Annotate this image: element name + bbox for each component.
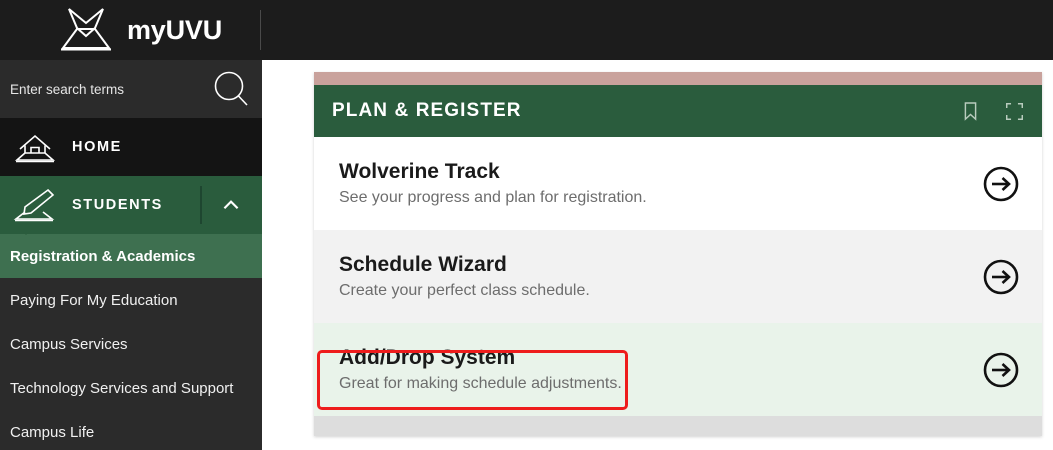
card-title: PLAN & REGISTER bbox=[332, 100, 522, 122]
pencil-icon bbox=[12, 187, 58, 223]
row-title: Wolverine Track bbox=[339, 160, 647, 184]
card-row-schedule-wizard[interactable]: Schedule Wizard Create your perfect clas… bbox=[314, 230, 1042, 323]
arrow-right-circle-icon bbox=[982, 165, 1020, 203]
home-icon bbox=[12, 129, 58, 165]
uvu-mountain-logo-icon bbox=[55, 6, 117, 54]
sidebar-submenu-label: Campus Services bbox=[10, 336, 128, 353]
sidebar-item-campus-services[interactable]: Campus Services bbox=[0, 322, 262, 366]
card-row-next-partial[interactable] bbox=[314, 416, 1042, 436]
sidebar-item-registration-academics[interactable]: Registration & Academics bbox=[0, 234, 262, 278]
row-arrow-button[interactable] bbox=[982, 165, 1020, 203]
card-header-actions bbox=[958, 85, 1026, 137]
card-accent-bar bbox=[314, 72, 1042, 85]
fullscreen-icon bbox=[1005, 102, 1024, 121]
sidebar-students-toggle[interactable] bbox=[200, 176, 262, 234]
sidebar-item-students[interactable]: STUDENTS bbox=[0, 176, 262, 234]
row-title: Schedule Wizard bbox=[339, 253, 590, 277]
sidebar-item-campus-life[interactable]: Campus Life bbox=[0, 410, 262, 450]
arrow-right-circle-icon bbox=[982, 258, 1020, 296]
row-subtitle: Great for making schedule adjustments. bbox=[339, 374, 622, 393]
row-subtitle: See your progress and plan for registrat… bbox=[339, 188, 647, 207]
sidebar-submenu-label: Campus Life bbox=[10, 424, 94, 441]
sidebar-submenu-label: Paying For My Education bbox=[10, 292, 178, 309]
card-row-wolverine-track[interactable]: Wolverine Track See your progress and pl… bbox=[314, 137, 1042, 230]
row-text: Add/Drop System Great for making schedul… bbox=[339, 346, 622, 393]
sidebar-submenu-label: Registration & Academics bbox=[10, 248, 195, 265]
brand-name: myUVU bbox=[127, 17, 222, 44]
row-arrow-button[interactable] bbox=[982, 258, 1020, 296]
sidebar-nav: HOME STUDENTS bbox=[0, 118, 262, 234]
row-arrow-button[interactable] bbox=[982, 351, 1020, 389]
sidebar-submenu: Registration & Academics Paying For My E… bbox=[0, 234, 262, 450]
row-subtitle: Create your perfect class schedule. bbox=[339, 281, 590, 300]
search-button[interactable] bbox=[210, 68, 252, 110]
sidebar-item-paying-for-my-education[interactable]: Paying For My Education bbox=[0, 278, 262, 322]
search-icon bbox=[210, 68, 252, 110]
sidebar-submenu-label: Technology Services and Support bbox=[10, 380, 233, 397]
sidebar-item-home-label: HOME bbox=[72, 139, 122, 155]
bookmark-icon bbox=[962, 101, 979, 122]
row-text: Wolverine Track See your progress and pl… bbox=[339, 160, 647, 207]
sidebar-item-home[interactable]: HOME bbox=[0, 118, 262, 176]
row-text: Schedule Wizard Create your perfect clas… bbox=[339, 253, 590, 300]
search-input[interactable] bbox=[10, 74, 200, 104]
app-root: myUVU HOME bbox=[0, 0, 1053, 450]
row-title: Add/Drop System bbox=[339, 346, 622, 370]
search-bar bbox=[0, 60, 262, 118]
sidebar: HOME STUDENTS Registration & bbox=[0, 60, 262, 450]
bookmark-button[interactable] bbox=[958, 98, 982, 124]
card-row-add-drop-system[interactable]: Add/Drop System Great for making schedul… bbox=[314, 323, 1042, 416]
main-content: PLAN & REGISTER bbox=[262, 60, 1053, 450]
chevron-up-icon bbox=[221, 195, 241, 215]
nav-divider bbox=[200, 186, 202, 224]
top-bar: myUVU bbox=[0, 0, 1053, 60]
sidebar-item-technology-services-and-support[interactable]: Technology Services and Support bbox=[0, 366, 262, 410]
plan-and-register-card: PLAN & REGISTER bbox=[314, 72, 1042, 436]
card-header: PLAN & REGISTER bbox=[314, 85, 1042, 137]
arrow-right-circle-icon bbox=[982, 351, 1020, 389]
expand-button[interactable] bbox=[1002, 98, 1026, 124]
sidebar-item-students-label: STUDENTS bbox=[72, 197, 163, 213]
brand-logo[interactable]: myUVU bbox=[55, 4, 222, 56]
topbar-divider bbox=[260, 10, 261, 50]
